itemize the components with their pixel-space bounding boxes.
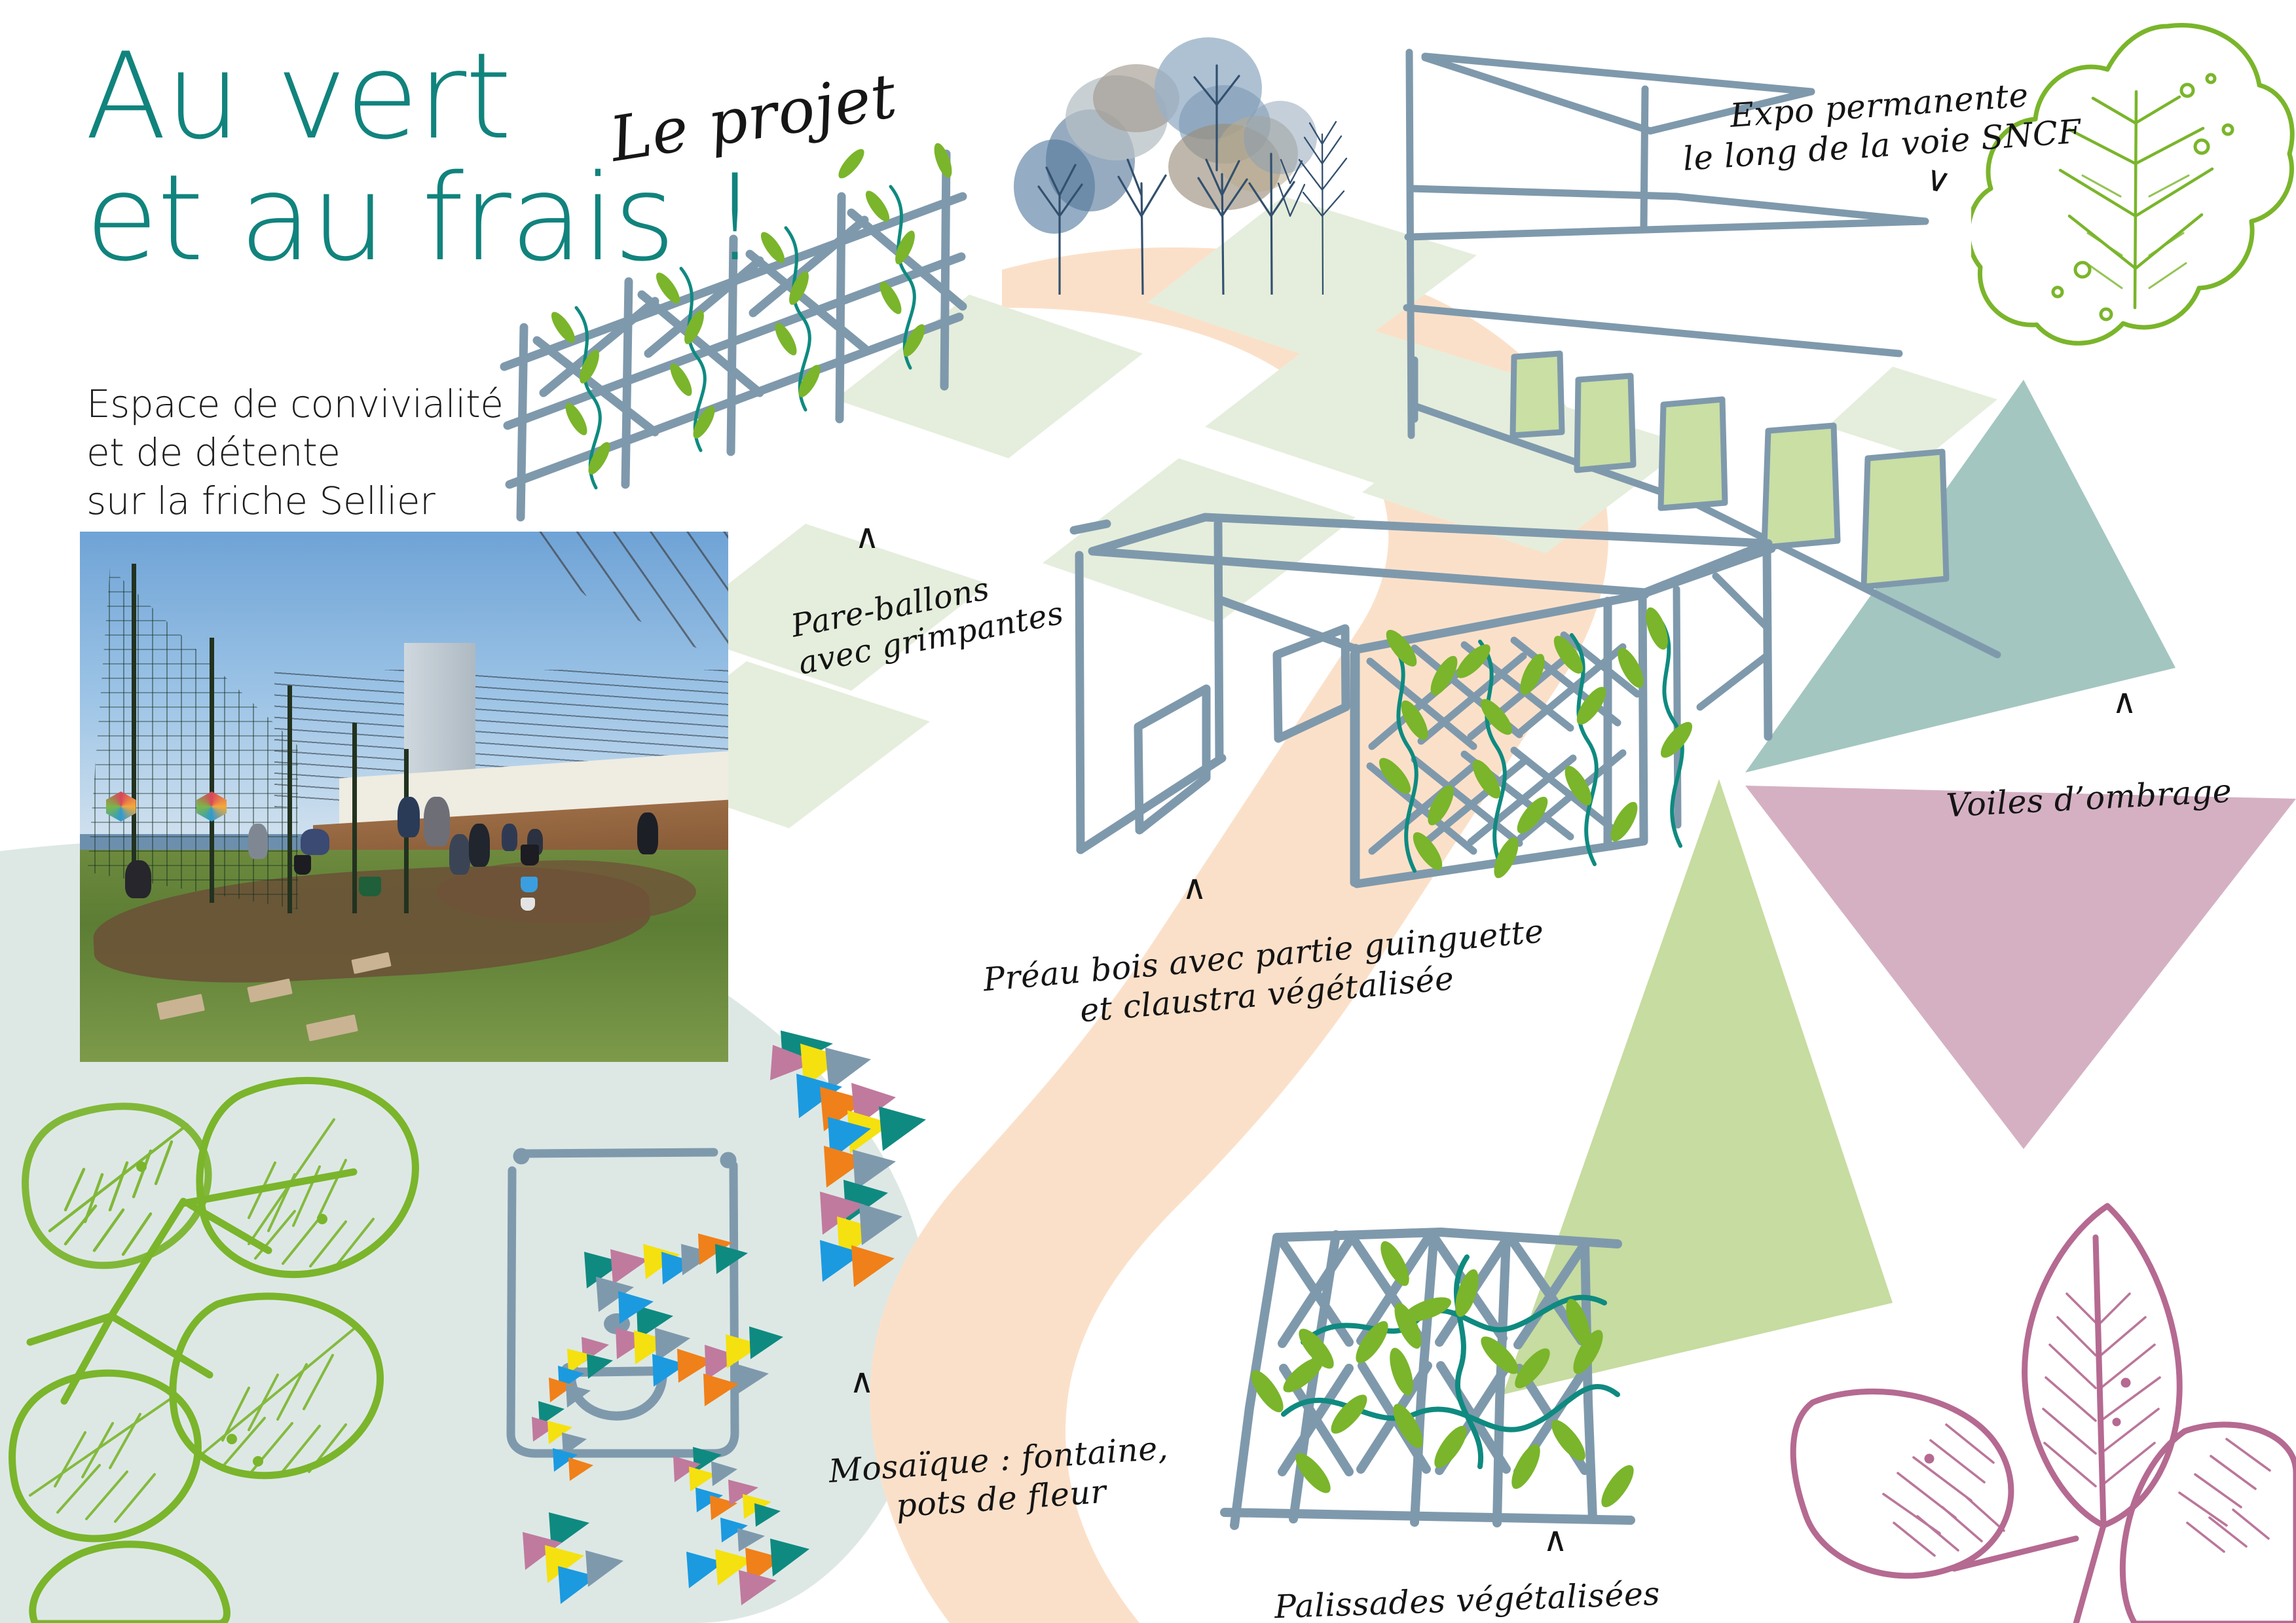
photo-net-post-3 (287, 685, 292, 913)
photo-person-1 (125, 860, 151, 898)
annotation-mosaique: Mosaïque : fontaine, pots de fleur (824, 1389, 1172, 1530)
subtitle-text: Espace de convivialité et de détente sur… (86, 380, 503, 526)
photo-bucket-3 (521, 845, 539, 866)
photo-person-4 (398, 797, 420, 837)
annotation-pare-ballons-caret: ∧ (855, 517, 880, 556)
photo-net-post-4 (352, 723, 357, 914)
handwritten-kicker: Le projet (606, 65, 901, 172)
friche-sellier-photo (80, 532, 728, 1062)
photo-bucket-2 (359, 877, 381, 896)
annotation-palissades: Palissades végétalisées (1272, 1535, 1661, 1623)
poster-canvas: Au vert Le projet et au frais ! Espace d… (0, 0, 2296, 1623)
annotation-voiles-ombrage-caret: ∧ (2112, 682, 2137, 721)
annotation-mosaique-caret: ∧ (849, 1362, 874, 1401)
photo-person-2 (248, 824, 268, 859)
photo-bucket-4 (521, 877, 538, 892)
photo-net-post-2 (210, 638, 214, 903)
page-title-line-2: et au frais ! (85, 158, 871, 280)
annotation-palissades-caret: ∧ (1543, 1520, 1568, 1559)
photo-person-5 (424, 797, 450, 847)
photo-soil-mound (437, 860, 696, 924)
page-title-line-1: Au vert Le projet (85, 36, 871, 158)
annotation-voiles-ombrage: Voiles d’ombrage (1943, 733, 2232, 826)
photo-person-7 (469, 824, 490, 867)
confetti-cluster-face (523, 1233, 809, 1605)
photo-net-post-1 (132, 564, 136, 882)
photo-tower-building (404, 643, 475, 786)
photo-person-10 (637, 812, 658, 854)
photo-person-8 (502, 824, 517, 851)
photo-bucket-1 (294, 855, 311, 875)
annotation-preau-bois-caret: ∧ (1182, 868, 1207, 907)
photo-bucket-5 (521, 898, 535, 911)
photo-person-3 (301, 829, 329, 855)
title-block: Au vert Le projet et au frais ! (85, 36, 871, 279)
confetti-cluster-upper (770, 1030, 926, 1287)
photo-person-6 (449, 834, 470, 875)
